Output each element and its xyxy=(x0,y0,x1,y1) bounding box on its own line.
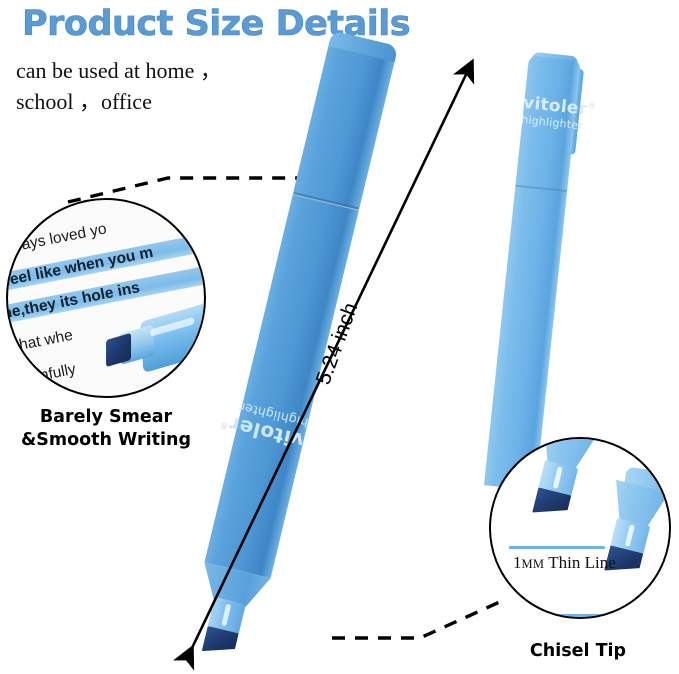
trademark-symbol: ® xyxy=(587,101,596,111)
trademark-symbol: ® xyxy=(218,419,229,431)
chisel-tip-caption: Chisel Tip xyxy=(489,641,667,661)
chisel-tip-detail: 1MM Thin Line 4MM Thick Line xyxy=(489,437,671,619)
magnifier-writing-sample: always known y s have always loved yo u … xyxy=(6,198,206,398)
pen-brand-logo: vitoler® highlighter xyxy=(234,322,328,455)
pen-brand-logo: vitoler® highlighter xyxy=(515,89,579,190)
page-subtitle: can be used at home ， school ，office xyxy=(16,55,222,117)
thin-line-label: 1MM Thin Line xyxy=(513,553,616,573)
highlighter-pen-left: vitoler® highlighter xyxy=(178,28,410,643)
thick-line-stroke xyxy=(513,614,649,619)
product-infographic: Product Size Details can be used at home… xyxy=(0,0,679,674)
highlighter-pen-right: vitoler® highlighter xyxy=(471,54,590,489)
magnifier-caption: Barely Smear &Smooth Writing xyxy=(8,406,204,452)
thin-line-stroke xyxy=(509,546,605,549)
